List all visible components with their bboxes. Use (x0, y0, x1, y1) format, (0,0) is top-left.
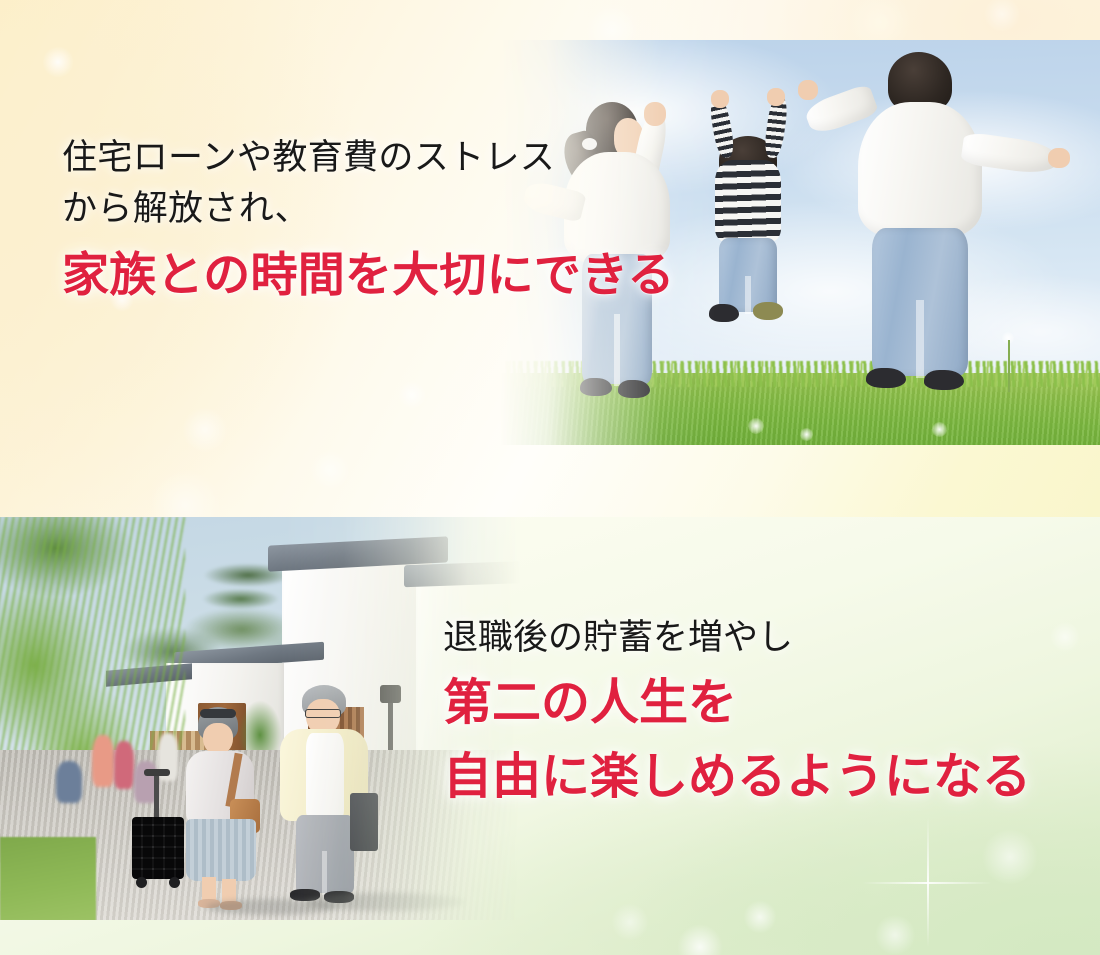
figure-senior-woman (172, 707, 268, 907)
woman-skirt (186, 819, 256, 881)
mother-shoe-left (580, 378, 612, 396)
father-shoe-right (924, 370, 964, 390)
child-hand-left (711, 90, 729, 108)
mother-jeans-gap (614, 314, 620, 386)
background-person (56, 761, 82, 803)
mother-hand (644, 102, 666, 126)
father-shoe-left (866, 368, 906, 388)
section-one-lead-line-1: 住宅ローンや教育費のストレス (62, 132, 822, 183)
man-carried-bag (350, 793, 378, 851)
section-two-copy: 退職後の貯蓄を増やし 第二の人生を 自由に楽しめるようになる (443, 613, 1083, 809)
townhouse-secondary-roof (404, 561, 520, 588)
suitcase-wheel (169, 877, 180, 888)
father-torso (858, 102, 982, 238)
benefit-section-retirement: 退職後の貯蓄を増やし 第二の人生を 自由に楽しめるようになる (0, 517, 1100, 955)
section-two-lead-line: 退職後の貯蓄を増やし (443, 613, 1083, 662)
suitcase-handle-grip (144, 769, 170, 776)
man-glasses (305, 709, 341, 718)
landing-page-benefits: 住宅ローンや教育費のストレス から解放され、 家族との時間を大切にできる (0, 0, 1100, 955)
section-one-accent-line: 家族との時間を大切にできる (62, 246, 822, 307)
weed-stem (1008, 340, 1010, 392)
dandelion-puff (748, 418, 764, 434)
child-hand-right (767, 88, 785, 106)
suitcase-body (132, 817, 184, 879)
woman-sunglasses-on-head (200, 709, 236, 718)
suitcase-handle (154, 775, 159, 821)
background-person (114, 741, 134, 789)
dandelion-puff (932, 422, 947, 437)
section-one-copy: 住宅ローンや教育費のストレス から解放され、 家族との時間を大切にできる (62, 132, 822, 307)
section-two-accent-line-2: 自由に楽しめるようになる (443, 745, 1083, 810)
suitcase-wheel (136, 877, 147, 888)
benefit-section-family: 住宅ローンや教育費のストレス から解放され、 家族との時間を大切にできる (0, 0, 1100, 517)
roadside-grass (0, 837, 96, 920)
lamp-head (380, 685, 401, 703)
senior-couple-photo (0, 517, 520, 920)
man-inner-shirt (306, 733, 344, 819)
man-trousers-gap (322, 851, 327, 895)
background-person (92, 735, 114, 787)
figure-father (796, 52, 1006, 382)
section-two-accent-line-1: 第二の人生を (443, 671, 1083, 736)
rolling-suitcase (132, 817, 184, 891)
mother-shoe-right (618, 380, 650, 398)
figure-senior-man (272, 685, 380, 907)
father-jeans-gap (916, 300, 924, 378)
father-hand-child (798, 80, 818, 100)
ground-shadow (306, 893, 466, 911)
dandelion-puff (800, 428, 813, 441)
section-one-lead-line-2: から解放され、 (62, 183, 822, 234)
father-hand-out (1048, 148, 1070, 168)
